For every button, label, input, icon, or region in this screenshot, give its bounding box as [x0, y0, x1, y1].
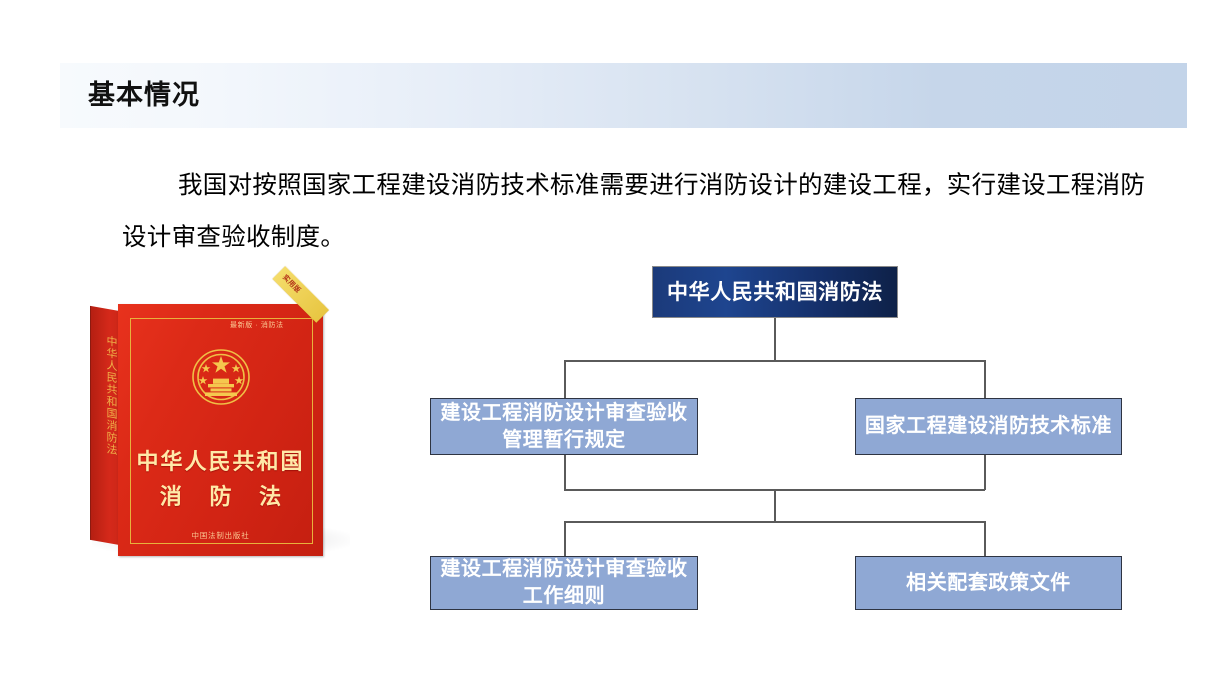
org-node-level3-left[interactable]: 建设工程消防设计审查验收 工作细则	[430, 556, 698, 610]
connector-mid-horizontal	[564, 489, 985, 491]
page-title: 基本情况	[88, 76, 200, 114]
book-publisher-label: 中国法制出版社	[118, 530, 323, 541]
connector-level3-horizontal	[564, 521, 985, 523]
connector-level3-left-drop	[564, 521, 566, 557]
org-node-level2-left[interactable]: 建设工程消防设计审查验收 管理暂行规定	[430, 398, 698, 455]
connector-mid-to-level3	[774, 489, 776, 522]
org-node-level3-right[interactable]: 相关配套政策文件	[855, 556, 1122, 610]
book-edition-label: 最新版 · 消防法	[230, 320, 284, 330]
connector-level2-horizontal	[564, 360, 985, 362]
fire-protection-law-book-image: 中华人民共和国消防法 最新版 · 消防法 实用版	[78, 296, 358, 568]
connector-level2-left-drop	[564, 360, 566, 399]
org-node-level2-right[interactable]: 国家工程建设消防技术标准	[855, 398, 1122, 455]
section-header-band	[60, 63, 1187, 128]
slide-canvas: 基本情况 我国对按照国家工程建设消防技术标准需要进行消防设计的建设工程，实行建设…	[0, 0, 1225, 690]
connector-level2-right-rise	[984, 455, 986, 490]
org-node-level3-right-label: 相关配套政策文件	[900, 570, 1077, 597]
book-cover: 最新版 · 消防法 实用版	[118, 304, 323, 556]
book-ribbon-label: 实用版	[280, 273, 303, 296]
connector-level2-right-drop	[984, 360, 986, 399]
connector-root-to-level2	[774, 318, 776, 361]
book-corner-ribbon: 实用版	[272, 266, 329, 323]
book-title-sub: 消 防 法	[118, 479, 323, 511]
org-node-level2-right-label: 国家工程建设消防技术标准	[859, 413, 1118, 440]
connector-level3-right-drop	[984, 521, 986, 557]
book-spine-label: 中华人民共和国消防法	[100, 334, 117, 457]
body-paragraph: 我国对按照国家工程建设消防技术标准需要进行消防设计的建设工程，实行建设工程消防设…	[122, 160, 1157, 264]
org-node-level2-left-label: 建设工程消防设计审查验收 管理暂行规定	[434, 400, 693, 454]
org-node-root-label: 中华人民共和国消防法	[661, 279, 889, 306]
national-emblem-icon	[186, 346, 256, 408]
org-node-root[interactable]: 中华人民共和国消防法	[652, 266, 898, 318]
connector-level2-left-rise	[564, 455, 566, 490]
org-node-level3-left-label: 建设工程消防设计审查验收 工作细则	[434, 556, 693, 610]
book-title-main: 中华人民共和国	[118, 444, 323, 476]
